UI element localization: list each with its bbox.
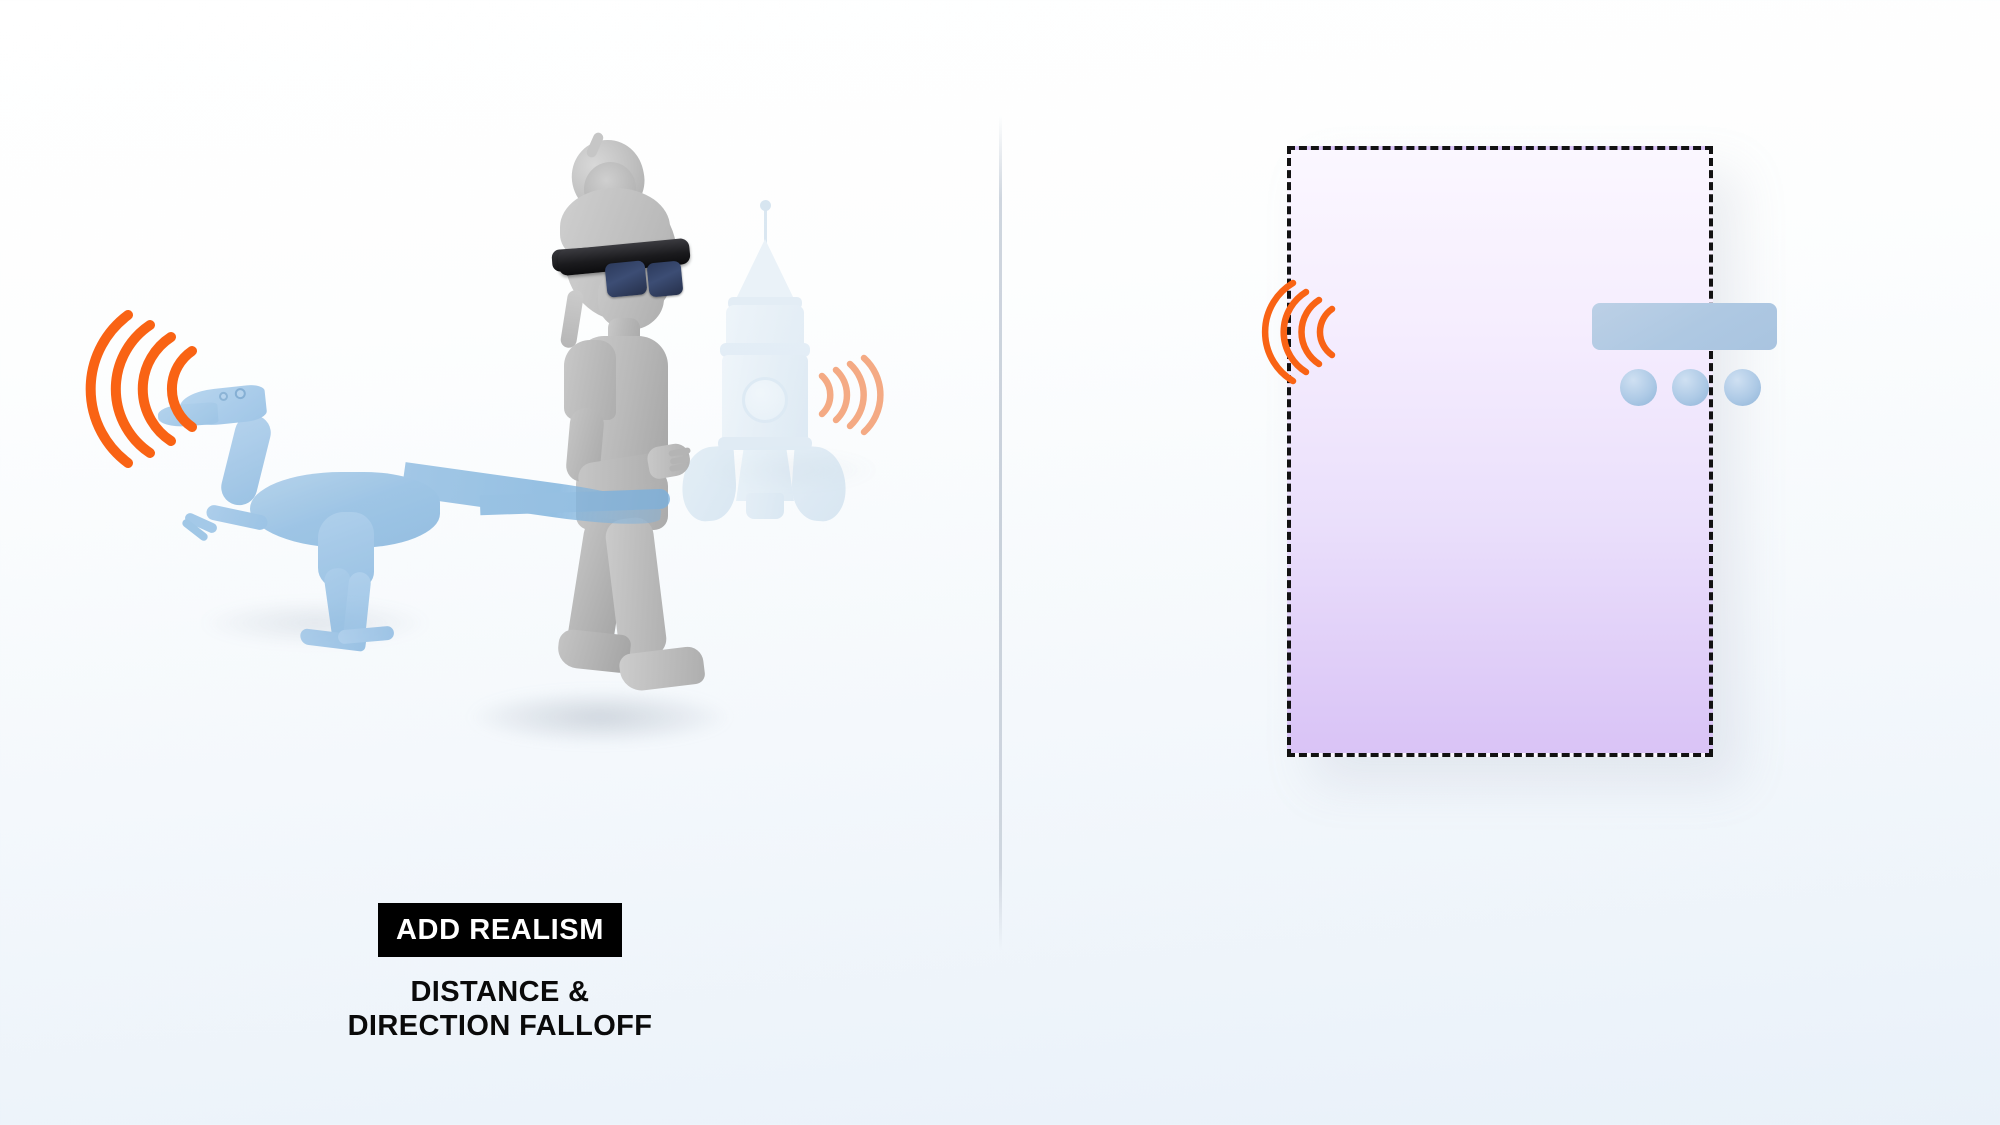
caption-left: ADD REALISM DISTANCE & DIRECTION FALLOFF	[150, 903, 850, 1043]
rocket-lower-band	[718, 437, 812, 450]
ui-sphere-element[interactable]	[1724, 369, 1761, 406]
ui-sphere-element[interactable]	[1672, 369, 1709, 406]
dinosaur-eye-second	[219, 391, 229, 401]
panel-left-tag: ADD REALISM	[378, 903, 622, 957]
dinosaur-eye	[234, 388, 246, 400]
panel-left-scene: ADD REALISM DISTANCE & DIRECTION FALLOFF	[0, 0, 1000, 900]
panel-left-subtitle: DISTANCE & DIRECTION FALLOFF	[150, 976, 850, 1043]
rocket-nose-cone	[735, 239, 795, 301]
ar-glasses-lens-right	[646, 260, 683, 297]
hand	[646, 442, 693, 481]
rocket-nozzle	[746, 493, 784, 519]
ar-glasses-lens-left	[604, 260, 647, 298]
illustration-stage: ADD REALISM DISTANCE & DIRECTION FALLOFF…	[0, 0, 2000, 1125]
rocket-antenna-tip	[760, 200, 771, 211]
ui-sphere-element[interactable]	[1620, 369, 1657, 406]
far-sound-wave-icon	[812, 350, 902, 440]
rocket-fin-right	[789, 445, 848, 523]
near-sound-wave-icon	[70, 305, 220, 460]
offscreen-sound-wave-icon	[1258, 273, 1346, 383]
ui-bar-element[interactable]	[1592, 303, 1777, 350]
finger	[669, 463, 687, 472]
panel-right-scene: CUE TRANSITIONS FROM OUTSIDE FOV	[1000, 0, 2000, 900]
rocket-upper-stage	[726, 305, 804, 347]
rocket-window	[742, 377, 788, 423]
field-of-view-box	[1287, 146, 1713, 757]
hair-strand	[560, 289, 585, 349]
